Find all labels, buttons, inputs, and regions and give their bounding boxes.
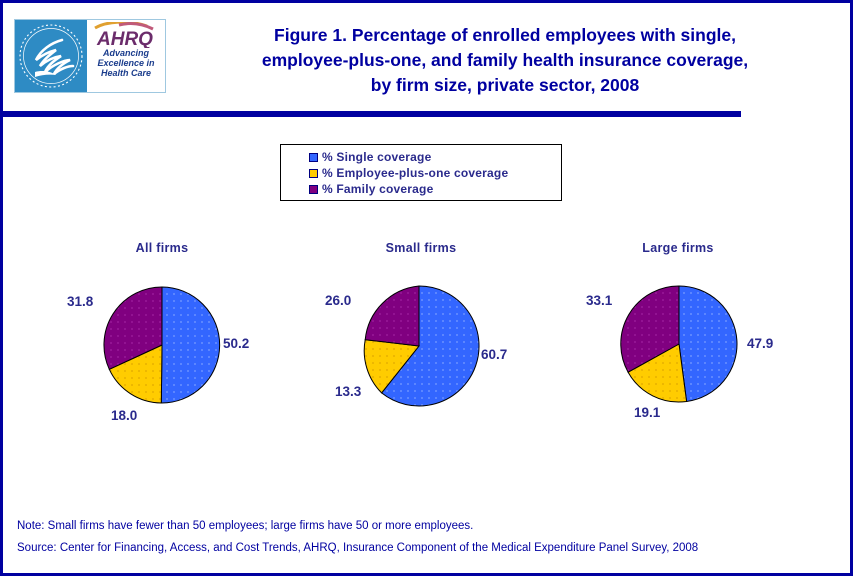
pie-value-all-firms-single: 50.2 <box>223 336 249 351</box>
pie-value-small-firms-single: 60.7 <box>481 347 507 362</box>
pie-value-small-firms-employee-plus-one: 13.3 <box>335 384 361 399</box>
ahrq-wordmark: AHRQ Advancing Excellence in Health Care <box>87 20 165 92</box>
figure-header: AHRQ Advancing Excellence in Health Care… <box>3 3 850 103</box>
pie-title-small-firms: Small firms <box>331 241 511 255</box>
figure-container: AHRQ Advancing Excellence in Health Care… <box>0 0 853 576</box>
pie-value-all-firms-family: 31.8 <box>67 294 93 309</box>
pie-value-all-firms-employee-plus-one: 18.0 <box>111 408 137 423</box>
pie-svg-all-firms <box>102 285 222 405</box>
legend-label-employee-plus-one: % Employee-plus-one coverage <box>322 166 508 180</box>
svg-text:AHRQ: AHRQ <box>96 29 153 48</box>
pie-value-large-firms-employee-plus-one: 19.1 <box>634 405 660 420</box>
legend-item-single[interactable]: % Single coverage <box>309 149 561 165</box>
pie-value-large-firms-family: 33.1 <box>586 293 612 308</box>
figure-title: Figure 1. Percentage of enrolled employe… <box>175 23 835 98</box>
pie-title-large-firms: Large firms <box>588 241 768 255</box>
figure-title-line-2: employee-plus-one, and family health ins… <box>175 48 835 73</box>
pie-title-all-firms: All firms <box>72 241 252 255</box>
footer-source: Source: Center for Financing, Access, an… <box>17 537 827 559</box>
legend-swatch-family-icon <box>309 185 318 194</box>
pie-value-large-firms-single: 47.9 <box>747 336 773 351</box>
ahrq-tagline-line-2: Excellence in <box>87 58 165 68</box>
legend-label-single: % Single coverage <box>322 150 431 164</box>
legend-swatch-employee-plus-one-icon <box>309 169 318 178</box>
legend-label-family: % Family coverage <box>322 182 433 196</box>
legend-item-family[interactable]: % Family coverage <box>309 181 561 197</box>
header-divider-rule <box>3 111 741 117</box>
figure-title-line-3: by firm size, private sector, 2008 <box>175 73 835 98</box>
ahrq-tagline-line-3: Health Care <box>87 68 165 78</box>
legend-swatch-single-icon <box>309 153 318 162</box>
legend-item-employee-plus-one[interactable]: % Employee-plus-one coverage <box>309 165 561 181</box>
ahrq-tagline-line-1: Advancing <box>87 48 165 58</box>
pie-svg-large-firms <box>619 284 739 404</box>
pie-value-small-firms-family: 26.0 <box>325 293 351 308</box>
footer-note: Note: Small firms have fewer than 50 emp… <box>17 515 827 537</box>
pie-svg-small-firms <box>357 284 481 408</box>
figure-footer: Note: Small firms have fewer than 50 emp… <box>17 515 827 559</box>
hhs-seal-icon <box>15 20 87 92</box>
chart-legend: % Single coverage % Employee-plus-one co… <box>280 144 562 201</box>
figure-title-line-1: Figure 1. Percentage of enrolled employe… <box>175 23 835 48</box>
ahrq-logo: AHRQ Advancing Excellence in Health Care <box>14 19 166 93</box>
